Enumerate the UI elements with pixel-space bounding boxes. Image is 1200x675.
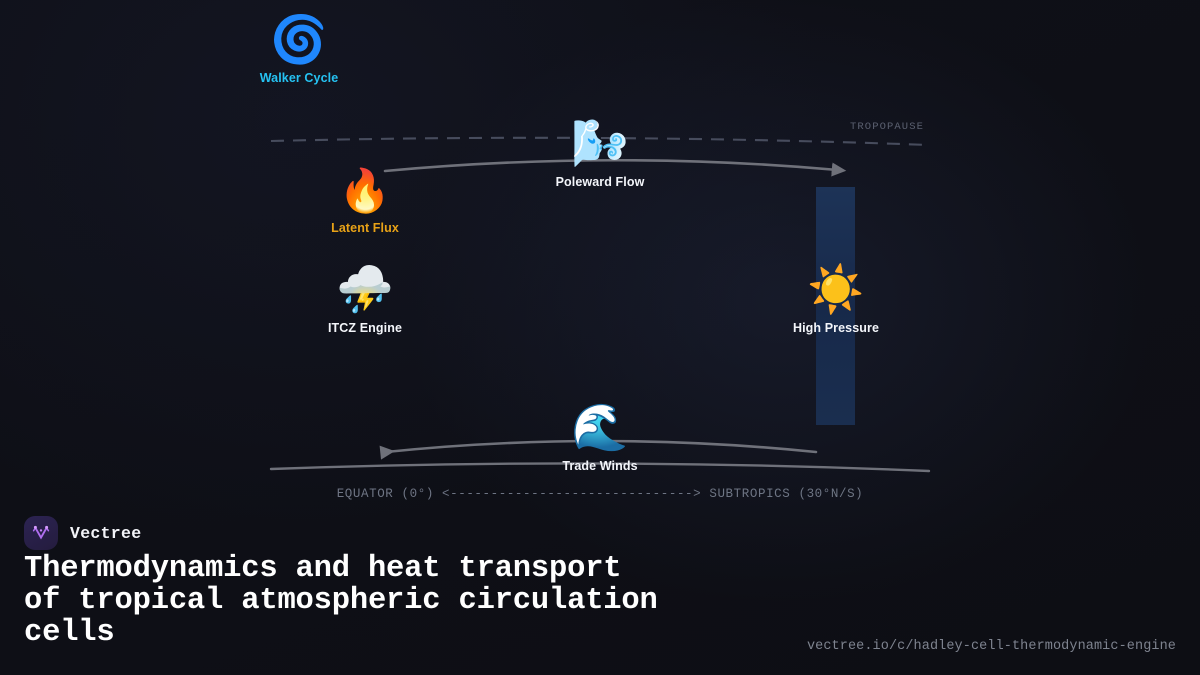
brand-name: Vectree: [70, 524, 141, 543]
node-high-pressure-label: High Pressure: [793, 321, 879, 335]
circulation-diagram: TROPOPAUSE EQUATOR (0°) <---------------…: [0, 0, 1200, 505]
cyclone-icon: 🌀: [270, 16, 327, 62]
vectree-glyph: [30, 522, 52, 544]
permalink-url[interactable]: vectree.io/c/hadley-cell-thermodynamic-e…: [807, 639, 1176, 654]
vectree-logo-icon: [24, 516, 58, 550]
tropopause-label: TROPOPAUSE: [850, 121, 924, 133]
latitude-axis-label: EQUATOR (0°) <--------------------------…: [0, 487, 1200, 501]
wind-face-icon: 🌬️: [571, 120, 628, 166]
node-high-pressure[interactable]: ☀️ High Pressure: [746, 266, 926, 335]
node-walker-cycle[interactable]: 🌀 Walker Cycle: [209, 16, 389, 85]
node-itcz-engine[interactable]: ⛈️ ITCZ Engine: [275, 266, 455, 335]
node-walker-cycle-label: Walker Cycle: [260, 71, 339, 85]
page-title: Thermodynamics and heat transport of tro…: [24, 553, 844, 649]
fire-icon: 🔥: [339, 170, 391, 212]
sun-icon: ☀️: [807, 266, 864, 312]
node-itcz-engine-label: ITCZ Engine: [328, 321, 402, 335]
node-poleward-flow[interactable]: 🌬️ Poleward Flow: [510, 120, 690, 189]
screenshot-root: TROPOPAUSE EQUATOR (0°) <---------------…: [0, 0, 1200, 675]
caption-footer: Vectree Thermodynamics and heat transpor…: [0, 505, 1200, 675]
water-wave-icon: 🌊: [571, 404, 628, 450]
brand[interactable]: Vectree: [24, 516, 141, 550]
node-trade-winds[interactable]: 🌊 Trade Winds: [510, 404, 690, 473]
node-latent-flux-label: Latent Flux: [331, 221, 399, 235]
thunder-cloud-rain-icon: ⛈️: [336, 266, 393, 312]
node-trade-winds-label: Trade Winds: [562, 459, 637, 473]
node-poleward-flow-label: Poleward Flow: [556, 175, 645, 189]
node-latent-flux[interactable]: 🔥 Latent Flux: [275, 170, 455, 235]
